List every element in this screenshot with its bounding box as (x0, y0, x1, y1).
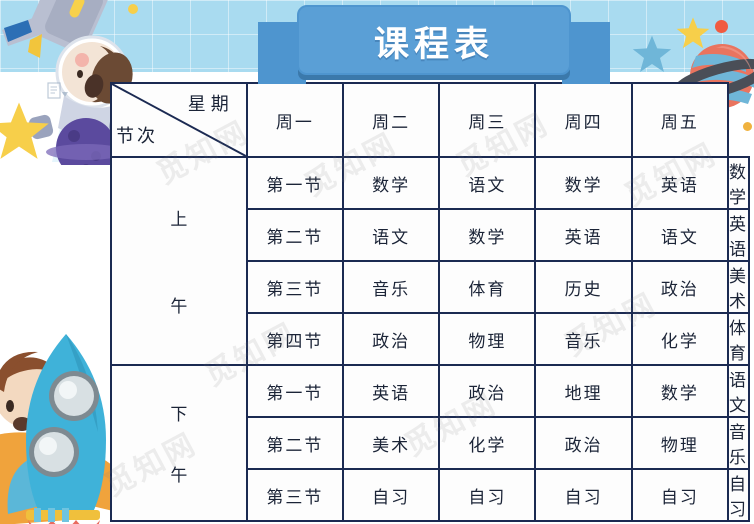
subject-cell: 自习 (728, 469, 749, 521)
daypart-char: 午 (170, 292, 187, 317)
period-label: 第二节 (247, 209, 343, 261)
subject-cell: 英语 (728, 209, 749, 261)
period-label: 第一节 (247, 157, 343, 209)
table-header-row: 星期 节次 周一 周二 周三 周四 周五 (111, 83, 749, 157)
daypart-char: 下 (170, 400, 187, 425)
star-icon (632, 34, 672, 74)
subject-cell: 地理 (535, 365, 631, 417)
subject-cell: 美术 (343, 417, 439, 469)
file-icon (47, 82, 69, 102)
subject-cell: 音乐 (343, 261, 439, 313)
schedule-poster: 星期 节次 周一 周二 周三 周四 周五 上 午 第一节 数学 (0, 0, 754, 524)
table-row: 上 午 第一节 数学 语文 数学 英语 数学 (111, 157, 749, 209)
period-label: 第四节 (247, 313, 343, 365)
subject-cell: 数学 (632, 365, 728, 417)
daypart-char: 午 (170, 461, 187, 486)
subject-cell: 英语 (632, 157, 728, 209)
day-header-fri: 周五 (632, 83, 728, 157)
decor-dot (715, 20, 728, 33)
subject-cell: 数学 (728, 157, 749, 209)
subject-cell: 英语 (343, 365, 439, 417)
subject-cell: 政治 (343, 313, 439, 365)
subject-cell: 音乐 (535, 313, 631, 365)
subject-cell: 自习 (535, 469, 631, 521)
star-icon (0, 100, 50, 162)
period-label: 第三节 (247, 261, 343, 313)
title-banner: 课程表 (258, 4, 610, 86)
class-schedule-table: 星期 节次 周一 周二 周三 周四 周五 上 午 第一节 数学 (110, 82, 750, 522)
subject-cell: 美术 (728, 261, 749, 313)
period-label: 第三节 (247, 469, 343, 521)
subject-cell: 音乐 (728, 417, 749, 469)
subject-cell: 历史 (535, 261, 631, 313)
banner-title: 课程表 (258, 16, 610, 67)
table-row: 下 午 第一节 英语 政治 地理 数学 语文 (111, 365, 749, 417)
subject-cell: 自习 (439, 469, 535, 521)
subject-cell: 化学 (632, 313, 728, 365)
day-header-tue: 周二 (343, 83, 439, 157)
subject-cell: 物理 (439, 313, 535, 365)
daypart-afternoon: 下 午 (111, 365, 247, 521)
period-label: 第一节 (247, 365, 343, 417)
subject-cell: 政治 (632, 261, 728, 313)
subject-cell: 自习 (343, 469, 439, 521)
subject-cell: 英语 (535, 209, 631, 261)
subject-cell: 语文 (728, 365, 749, 417)
subject-cell: 体育 (728, 313, 749, 365)
subject-cell: 化学 (439, 417, 535, 469)
decor-dot (128, 4, 138, 14)
subject-cell: 物理 (632, 417, 728, 469)
subject-cell: 数学 (535, 157, 631, 209)
daypart-char: 上 (170, 205, 187, 230)
subject-cell: 体育 (439, 261, 535, 313)
subject-cell: 语文 (439, 157, 535, 209)
day-header-mon: 周一 (247, 83, 343, 157)
corner-header-cell: 星期 节次 (111, 83, 247, 157)
subject-cell: 政治 (439, 365, 535, 417)
subject-cell: 数学 (439, 209, 535, 261)
subject-cell: 语文 (632, 209, 728, 261)
day-header-thu: 周四 (535, 83, 631, 157)
subject-cell: 语文 (343, 209, 439, 261)
star-icon (676, 16, 710, 50)
week-axis-label: 星期 (188, 90, 234, 116)
subject-cell: 政治 (535, 417, 631, 469)
period-axis-label: 节次 (116, 122, 158, 148)
subject-cell: 数学 (343, 157, 439, 209)
daypart-morning: 上 午 (111, 157, 247, 365)
period-label: 第二节 (247, 417, 343, 469)
subject-cell: 自习 (632, 469, 728, 521)
day-header-wed: 周三 (439, 83, 535, 157)
